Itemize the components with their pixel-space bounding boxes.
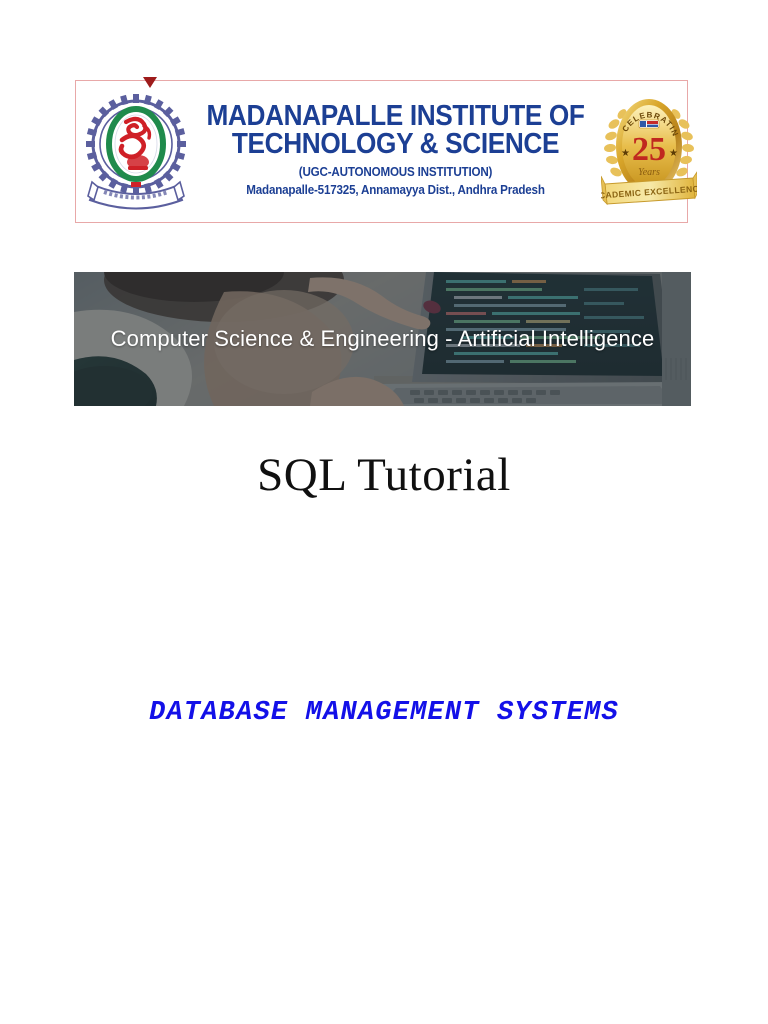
department-name-caption: Computer Science & Engineering - Artific… (109, 325, 656, 353)
department-banner: Computer Science & Engineering - Artific… (74, 272, 691, 406)
institute-autonomy-line: (UGC-AUTONOMOUS INSTITUTION) (204, 165, 586, 179)
institute-header-content: MADANAPALLE INSTITUTE OF TECHNOLOGY & SC… (76, 81, 687, 222)
institute-crest-icon (82, 86, 190, 218)
svg-text:★: ★ (621, 148, 630, 159)
subject-heading: DATABASE MANAGEMENT SYSTEMS (0, 698, 768, 728)
header-top-marker-icon (143, 77, 157, 88)
svg-text:25: 25 (632, 131, 666, 168)
svg-text:★: ★ (669, 148, 678, 159)
institute-name-line-2: TECHNOLOGY & SCIENCE (206, 130, 584, 158)
institute-header-box: MADANAPALLE INSTITUTE OF TECHNOLOGY & SC… (75, 80, 688, 223)
document-title: SQL Tutorial (0, 448, 768, 502)
institute-address-line: Madanapalle-517325, Annamayya Dist., And… (204, 183, 586, 197)
celebrating-25-years-badge-icon: CELEBRATING 25 Years ★ ★ ACADEMIC EXCELL… (601, 88, 697, 216)
institute-name-line-1: MADANAPALLE INSTITUTE OF (206, 102, 584, 130)
institute-title-block: MADANAPALLE INSTITUTE OF TECHNOLOGY & SC… (190, 102, 601, 201)
svg-text:Years: Years (638, 167, 660, 178)
